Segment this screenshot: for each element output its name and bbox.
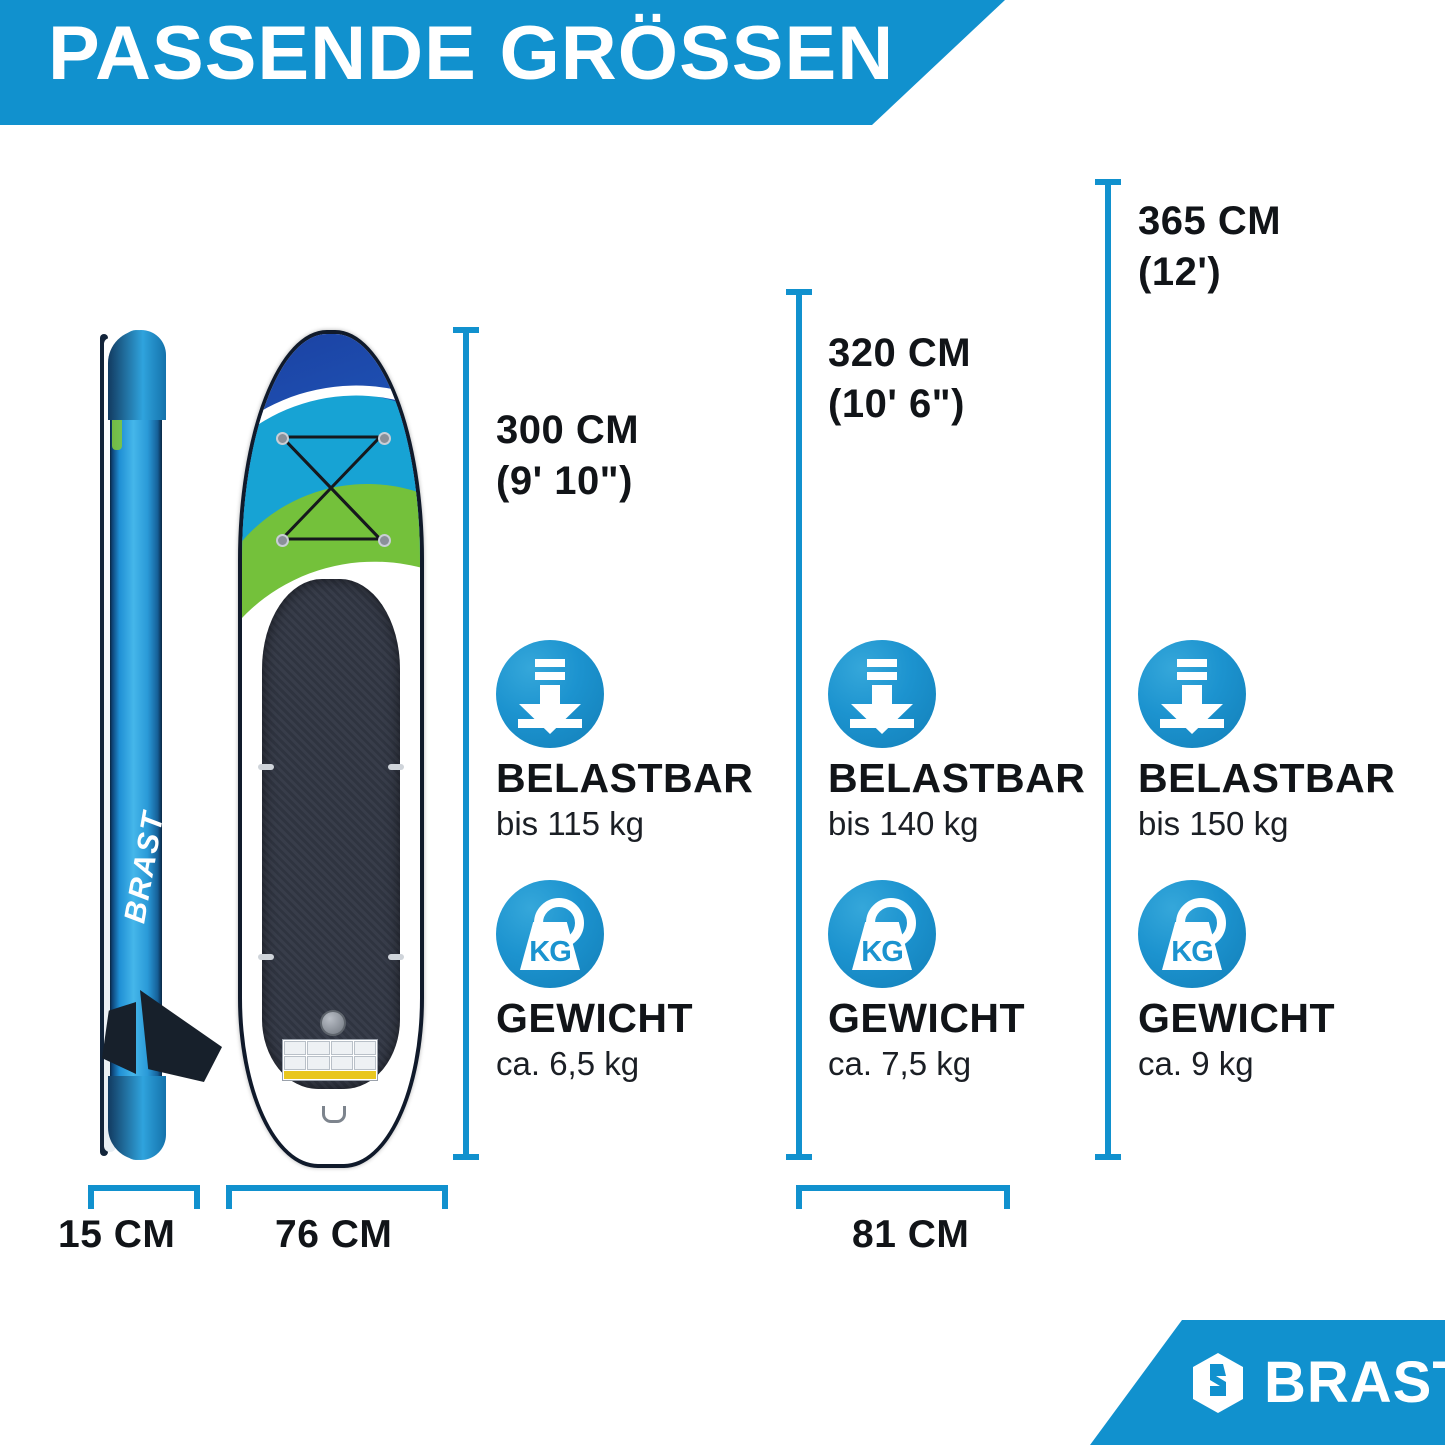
- size-cm-3: 365 CM: [1138, 199, 1281, 243]
- width-large-cap-right: [1004, 1185, 1010, 1209]
- capacity-value-1: bis 115 kg: [496, 807, 826, 840]
- size-label-2: 320 CM (10' 6"): [828, 328, 971, 430]
- width-small-cap-right: [442, 1185, 448, 1209]
- weight-value-1: ca. 6,5 kg: [496, 1047, 826, 1080]
- brast-hexagon-logo-icon: [1190, 1352, 1246, 1414]
- kg-weight-icon: KG: [828, 880, 936, 988]
- thickness-label: 15 CM: [58, 1213, 175, 1257]
- d-ring: [378, 432, 391, 445]
- d-ring: [378, 534, 391, 547]
- board-side-nose: [108, 330, 166, 420]
- kg-text: KG: [828, 936, 936, 969]
- weight-block-3: KG GEWICHT ca. 9 kg: [1138, 880, 1445, 1080]
- sticker-pictogram: [307, 1056, 329, 1070]
- length-dimension-cap-top-1: [453, 327, 479, 333]
- sticker-pictogram: [354, 1041, 376, 1055]
- length-dimension-cap-bottom-2: [786, 1154, 812, 1160]
- size-label-3: 365 CM (12'): [1138, 196, 1281, 298]
- load-arrow-icon: [828, 640, 936, 748]
- page-title: PASSENDE GRÖSSEN: [48, 16, 894, 92]
- size-cm-1: 300 CM: [496, 408, 639, 452]
- kg-weight-icon: KG: [496, 880, 604, 988]
- bungee-cord: [276, 429, 386, 549]
- capacity-title-3: BELASTBAR: [1138, 758, 1445, 799]
- infographic-root: PASSENDE GRÖSSEN BRAST: [0, 0, 1445, 1445]
- sup-board-side-view: BRAST: [88, 330, 198, 1160]
- capacity-title-1: BELASTBAR: [496, 758, 826, 799]
- side-d-ring: [258, 954, 274, 960]
- capacity-value-3: bis 150 kg: [1138, 807, 1445, 840]
- board-side-tail: [108, 1076, 166, 1160]
- capacity-block-3: BELASTBAR bis 150 kg: [1138, 640, 1445, 840]
- length-dimension-line-1: [463, 330, 469, 1160]
- d-ring: [276, 534, 289, 547]
- width-small-dimension-line: [226, 1185, 448, 1191]
- sticker-pictogram: [284, 1056, 306, 1070]
- size-ft-1: (9' 10"): [496, 456, 639, 507]
- thickness-dimension-line: [88, 1185, 200, 1191]
- sticker-pictogram: [284, 1041, 306, 1055]
- tail-d-ring: [322, 1106, 346, 1123]
- length-dimension-line-2: [796, 292, 802, 1160]
- board-side-fin: [140, 990, 222, 1082]
- sticker-pictogram: [354, 1056, 376, 1070]
- capacity-block-1: BELASTBAR bis 115 kg: [496, 640, 826, 840]
- board-outline: [238, 330, 424, 1168]
- kg-text: KG: [496, 936, 604, 969]
- thickness-cap-right: [194, 1185, 200, 1209]
- width-large-dimension-line: [796, 1185, 1010, 1191]
- sticker-pictogram: [331, 1056, 353, 1070]
- kg-text: KG: [1138, 936, 1246, 969]
- size-ft-3: (12'): [1138, 247, 1281, 298]
- size-ft-2: (10' 6"): [828, 379, 971, 430]
- width-small-cap-left: [226, 1185, 232, 1209]
- weight-title-1: GEWICHT: [496, 998, 826, 1039]
- length-dimension-cap-top-2: [786, 289, 812, 295]
- brand-name: BRAST: [1264, 1354, 1445, 1412]
- width-large-cap-left: [796, 1185, 802, 1209]
- sticker-pictogram: [307, 1041, 329, 1055]
- thickness-cap-left: [88, 1185, 94, 1209]
- size-cm-2: 320 CM: [828, 331, 971, 375]
- brand-logo: BRAST: [1190, 1352, 1445, 1414]
- load-arrow-icon: [496, 640, 604, 748]
- d-ring: [276, 432, 289, 445]
- side-d-ring: [388, 954, 404, 960]
- length-dimension-cap-bottom-1: [453, 1154, 479, 1160]
- size-label-1: 300 CM (9' 10"): [496, 405, 639, 507]
- width-small-label: 76 CM: [275, 1213, 392, 1257]
- side-d-ring: [388, 764, 404, 770]
- width-large-label: 81 CM: [852, 1213, 969, 1257]
- length-dimension-line-3: [1105, 182, 1111, 1160]
- weight-title-3: GEWICHT: [1138, 998, 1445, 1039]
- sticker-pictogram: [331, 1041, 353, 1055]
- load-arrow-icon: [1138, 640, 1246, 748]
- kg-weight-icon: KG: [1138, 880, 1246, 988]
- sticker-warning-bar: [284, 1071, 376, 1079]
- inflation-valve: [320, 1010, 346, 1036]
- length-dimension-cap-top-3: [1095, 179, 1121, 185]
- weight-value-3: ca. 9 kg: [1138, 1047, 1445, 1080]
- sup-board-top-view: [238, 330, 416, 1160]
- weight-block-1: KG GEWICHT ca. 6,5 kg: [496, 880, 826, 1080]
- warning-sticker: [282, 1039, 378, 1081]
- length-dimension-cap-bottom-3: [1095, 1154, 1121, 1160]
- side-d-ring: [258, 764, 274, 770]
